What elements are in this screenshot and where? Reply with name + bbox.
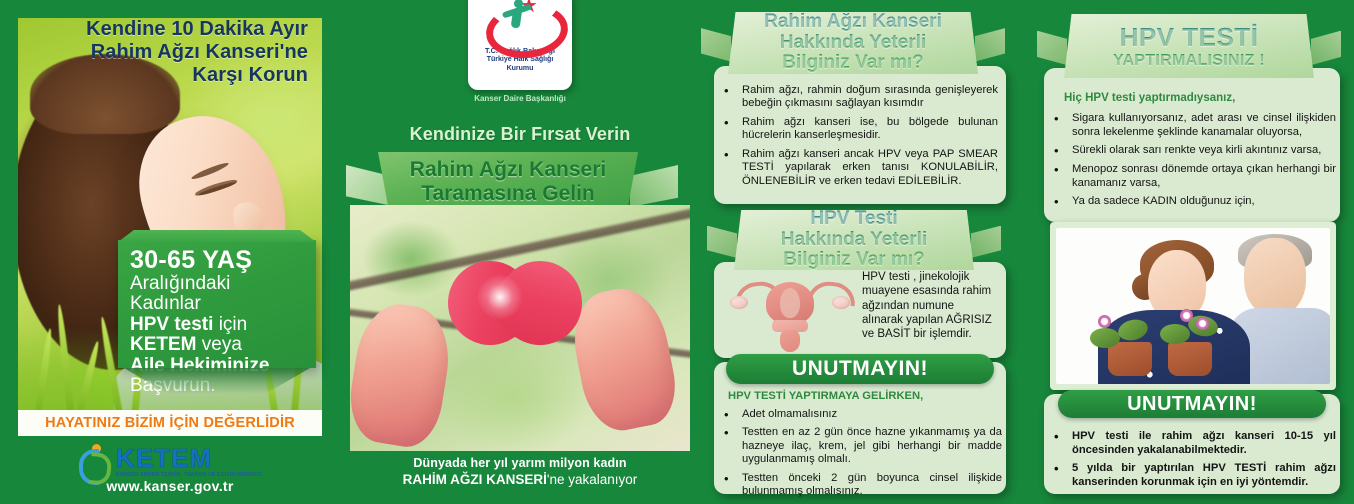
heart-hands-photo	[350, 205, 690, 451]
headline-line-1: Kendine 10 Dakika Ayır	[40, 18, 308, 41]
list-item: Menopoz sonrası dönemde ortaya çıkan her…	[1046, 163, 1336, 190]
card-couple-photo	[1050, 222, 1336, 390]
list-item: Sigara kullanıyorsanız, adet arası ve ci…	[1046, 112, 1336, 139]
hpv-explanation-text: HPV testi , jinekolojik muayene esasında…	[862, 270, 994, 341]
banner2-line-2: Hakkında Yeterli	[781, 230, 927, 251]
ministry-emblem-icon: ★	[468, 0, 572, 46]
elderly-couple-photo	[1056, 228, 1330, 384]
list-item: Adet olmamalısınız	[716, 408, 1002, 421]
ribbon-text: Rahim Ağzı Kanseri Taramasına Gelin	[378, 158, 638, 205]
cta-line-2: Aralığındaki	[130, 274, 306, 295]
headline-line-2: Rahim Ağzı Kanseri'ne	[40, 41, 308, 64]
card-unutmayin-benefits: UNUTMAYIN! HPV testi ile rahim ağzı kans…	[1044, 394, 1340, 494]
banner-hpv-knowledge: HPV Testi Hakkında Yeterli Bilginiz Var …	[734, 210, 974, 270]
card-hpv-indications: Hiç HPV testi yaptırmadıysanız, Sigara k…	[1044, 68, 1340, 222]
cta-line-4: HPV testi için	[130, 315, 306, 336]
list-item: Rahim ağzı, rahmin doğum sırasında geniş…	[716, 84, 998, 111]
banner4-line-1: HPV TESTİ	[1120, 23, 1259, 52]
list-item: HPV testi ile rahim ağzı kanseri 10-15 y…	[1046, 430, 1336, 457]
cta-line-6: Aile Hekiminize	[130, 356, 306, 377]
banner1-line-1: Rahim Ağzı Kanseri	[764, 12, 942, 33]
unutmayin-title: UNUTMAYIN!	[792, 357, 928, 381]
website-url[interactable]: www.kanser.gov.tr	[18, 478, 322, 494]
brochure-root: Kendine 10 Dakika Ayır Rahim Ağzı Kanser…	[0, 0, 1354, 502]
cta-line-5: KETEM veya	[130, 335, 306, 356]
cta-line-7: Başvurun.	[130, 376, 306, 397]
orange-slogan-banner: HAYATINIZ BİZİM İÇİN DEĞERLİDİR	[18, 410, 322, 436]
banner1-line-2: Hakkında Yeterli	[780, 33, 926, 54]
panel-invitation: ★ T.C. Sağlık Bakanlığı Türkiye Halk Sağ…	[340, 0, 700, 502]
call-to-action-box: 30-65 YAŞ Aralığındaki Kadınlar HPV test…	[118, 240, 316, 368]
card-hpv-explanation: HPV testi , jinekolojik muayene esasında…	[714, 262, 1006, 358]
panel2-caption: Dünyada her yıl yarım milyon kadın RAHİM…	[340, 456, 700, 489]
indications-list: Sigara kullanıyorsanız, adet arası ve ci…	[1046, 112, 1336, 214]
card-cervical-facts: Rahim ağzı, rahmin doğum sırasında geniş…	[714, 66, 1006, 204]
list-item: Sürekli olarak sarı renkte veya kirli ak…	[1046, 144, 1336, 158]
unutmayin-list: Adet olmamalısınız Testten en az 2 gün ö…	[716, 408, 1002, 504]
ribbon-line-2: Taramasına Gelin	[378, 182, 638, 206]
banner1-line-3: Bilginiz Var mı?	[782, 53, 923, 74]
list-item: Rahim ağzı kanseri ancak HPV veya PAP SM…	[716, 148, 998, 188]
panel1-headline: Kendine 10 Dakika Ayır Rahim Ağzı Kanser…	[40, 18, 308, 86]
age-range-text: 30-65 YAŞ	[130, 248, 306, 274]
invitation-subtitle: Kendinize Bir Fırsat Verin	[340, 124, 700, 145]
cta-line-3: Kadınlar	[130, 294, 306, 315]
banner-hpv-test: HPV TESTİ YAPTIRMALISINIZ !	[1064, 14, 1314, 78]
list-item: Ya da sadece KADIN olduğunuz için,	[1046, 195, 1336, 209]
ministry-name-line3: Kurumu	[468, 64, 572, 73]
banner2-line-3: Bilginiz Var mı?	[783, 250, 924, 271]
banner-cervical-knowledge: Rahim Ağzı Kanseri Hakkında Yeterli Bilg…	[728, 12, 978, 74]
unutmayin-pill-2: UNUTMAYIN!	[1058, 390, 1326, 418]
list-item: Testten en az 2 gün önce hazne yıkanmamı…	[716, 426, 1002, 466]
cervical-facts-list: Rahim ağzı, rahmin doğum sırasında geniş…	[716, 84, 998, 188]
panel-hpv-test: HPV TESTİ YAPTIRMALISINIZ ! Hiç HPV test…	[1030, 0, 1354, 502]
department-label: Kanser Daire Başkanlığı	[468, 94, 572, 104]
slogan-text: HAYATINIZ BİZİM İÇİN DEĞERLİDİR	[45, 415, 295, 431]
banner2-line-1: HPV Testi	[810, 209, 897, 230]
paper-heart-shape	[448, 251, 584, 371]
card-unutmayin-prep: UNUTMAYIN! HPV TESTİ YAPTIRMAYA GELİRKEN…	[714, 362, 1006, 494]
ketem-logo-block: KETEM KANSER ERKEN TEŞHİS, TARAMA VE EĞİ…	[18, 440, 322, 496]
caption-line-2: RAHİM AĞZI KANSERİ'ne yakalanıyor	[340, 472, 700, 489]
ministry-logo: ★ T.C. Sağlık Bakanlığı Türkiye Halk Sağ…	[468, 0, 572, 90]
indications-lead: Hiç HPV testi yaptırmadıysanız,	[1064, 92, 1235, 104]
uterus-icon	[728, 276, 852, 350]
list-item: Rahim ağzı kanseri ise, bu bölgede bulun…	[716, 116, 998, 143]
ketem-figure-icon	[78, 444, 112, 478]
ketem-logo: KETEM KANSER ERKEN TEŞHİS, TARAMA VE EĞİ…	[78, 444, 262, 478]
ketem-subtitle: KANSER ERKEN TEŞHİS, TARAMA VE EĞİTİM ME…	[116, 472, 262, 478]
banner4-line-2: YAPTIRMALISINIZ !	[1113, 52, 1265, 70]
headline-line-3: Karşı Korun	[40, 64, 308, 87]
list-item: 5 yılda bir yaptırılan HPV TESTİ rahim a…	[1046, 462, 1336, 489]
unutmayin-title-2: UNUTMAYIN!	[1127, 393, 1257, 416]
banner1-text: Rahim Ağzı Kanseri Hakkında Yeterli Bilg…	[728, 12, 978, 74]
unutmayin-lead: HPV TESTİ YAPTIRMAYA GELİRKEN,	[728, 390, 923, 402]
caption-line-1: Dünyada her yıl yarım milyon kadın	[340, 456, 700, 472]
benefits-list: HPV testi ile rahim ağzı kanseri 10-15 y…	[1046, 430, 1336, 495]
panel-cervical-info: Rahim Ağzı Kanseri Hakkında Yeterli Bilg…	[700, 0, 1030, 502]
banner4-text: HPV TESTİ YAPTIRMALISINIZ !	[1064, 14, 1314, 78]
unutmayin-pill: UNUTMAYIN!	[726, 354, 994, 384]
banner2-text: HPV Testi Hakkında Yeterli Bilginiz Var …	[734, 210, 974, 270]
panel-left-awareness: Kendine 10 Dakika Ayır Rahim Ağzı Kanser…	[0, 0, 340, 502]
ketem-wordmark: KETEM	[116, 445, 262, 471]
ribbon-line-1: Rahim Ağzı Kanseri	[378, 158, 638, 182]
list-item: Testten önceki 2 gün boyunca cinsel iliş…	[716, 472, 1002, 499]
